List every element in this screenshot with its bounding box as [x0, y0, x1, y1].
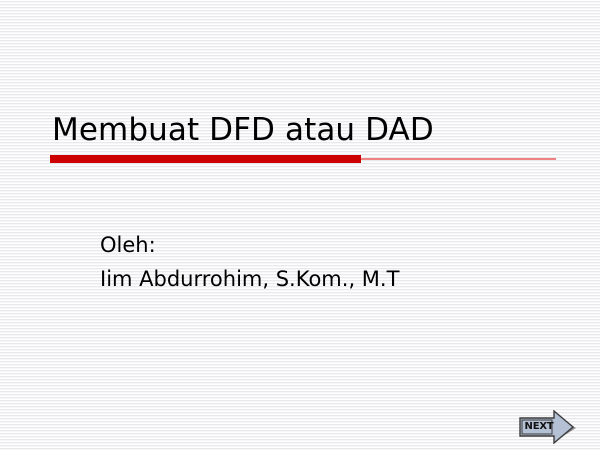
- arrow-right-icon: [518, 410, 576, 444]
- slide-body: Oleh: Iim Abdurrohim, S.Kom., M.T: [100, 228, 530, 296]
- title-divider: [50, 155, 556, 164]
- slide-title: Membuat DFD atau DAD: [52, 110, 562, 150]
- body-line-author-name: Iim Abdurrohim, S.Kom., M.T: [100, 262, 530, 296]
- body-line-author-label: Oleh:: [100, 228, 530, 262]
- slide-canvas: Membuat DFD atau DAD Oleh: Iim Abdurrohi…: [0, 0, 600, 450]
- next-button[interactable]: NEXT: [518, 410, 576, 444]
- divider-thick-bar: [50, 155, 361, 163]
